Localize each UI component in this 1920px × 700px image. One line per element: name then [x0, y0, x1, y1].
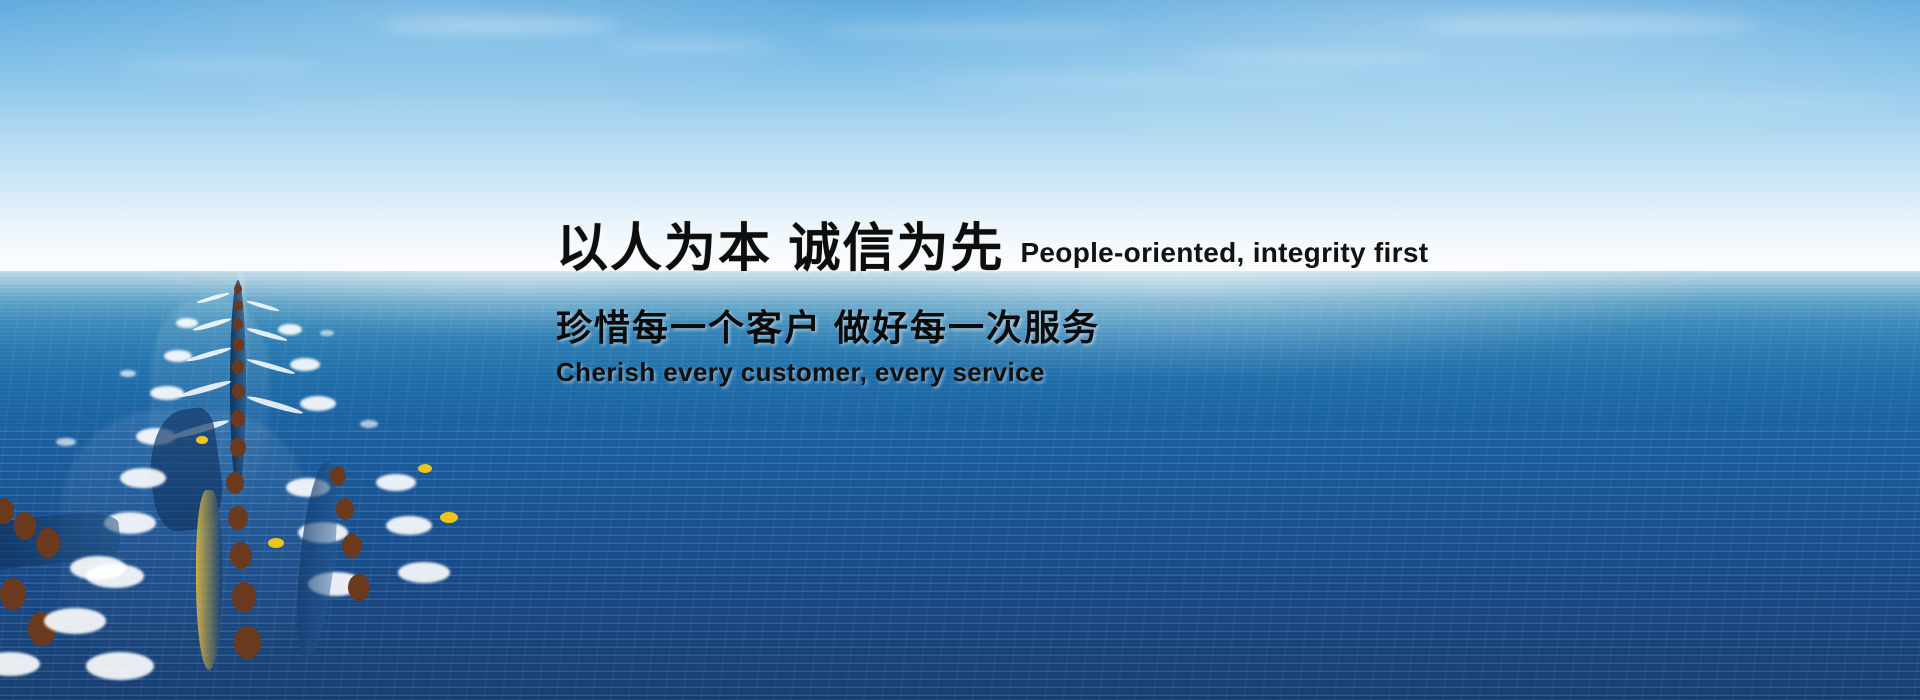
rower [231, 410, 245, 427]
white-cap [120, 370, 136, 377]
rower [233, 318, 243, 330]
rower [230, 438, 246, 457]
white-cap [320, 330, 334, 336]
water-splash [278, 324, 302, 335]
slogan-block: 以人为本 诚信为先 People-oriented, integrity fir… [556, 222, 1456, 388]
cloud-wisp [600, 40, 780, 51]
cloud-wisp [1600, 96, 1900, 106]
white-cap [360, 420, 378, 428]
rower [232, 384, 245, 399]
water-splash [176, 318, 198, 328]
rower [234, 300, 243, 311]
cloud-wisp [260, 104, 640, 113]
water-splash [376, 474, 416, 491]
boat-hull [196, 490, 222, 670]
rower [234, 626, 261, 659]
lane-buoy [418, 464, 432, 473]
hero-banner: 以人为本 诚信为先 People-oriented, integrity fir… [0, 0, 1920, 700]
rower [232, 360, 244, 374]
water-splash [386, 516, 432, 535]
white-cap [56, 438, 76, 446]
water-splash [398, 562, 450, 583]
oar [246, 299, 280, 312]
subheadline-english: Cherish every customer, every service [556, 357, 1456, 388]
rower [36, 528, 60, 558]
rower [348, 574, 370, 601]
cloud-wisp [380, 18, 620, 34]
subheadline-chinese: 珍惜每一个客户 做好每一次服务 [556, 299, 1456, 351]
lane-buoy [440, 512, 458, 523]
headline-chinese: 以人为本 诚信为先 [556, 222, 1004, 277]
lane-buoy [196, 436, 208, 444]
water-splash [164, 350, 192, 362]
water-splash [44, 608, 106, 634]
rower [232, 582, 256, 612]
rower [234, 284, 242, 294]
cloud-wisp [820, 24, 1120, 38]
rower [228, 506, 248, 530]
rower [336, 498, 354, 520]
rower [330, 466, 346, 486]
rower [14, 512, 36, 540]
headline-english: People-oriented, integrity first [1020, 237, 1428, 269]
rower [226, 472, 244, 494]
cloud-wisp [1180, 52, 1440, 64]
water-splash [150, 386, 184, 400]
cloud-wisp [120, 60, 320, 70]
rower [0, 578, 26, 610]
lane-buoy [268, 538, 284, 548]
water-splash [86, 652, 154, 680]
rower [230, 542, 252, 569]
cloud-wisp [930, 74, 1350, 86]
water-splash [300, 396, 336, 411]
headline-row: 以人为本 诚信为先 People-oriented, integrity fir… [556, 222, 1456, 277]
rower [233, 338, 244, 351]
cloud-wisp [1420, 16, 1760, 34]
rower [342, 534, 362, 558]
water-splash [0, 652, 40, 676]
water-splash [70, 556, 126, 580]
water-splash [290, 358, 320, 371]
water-splash [120, 468, 166, 488]
